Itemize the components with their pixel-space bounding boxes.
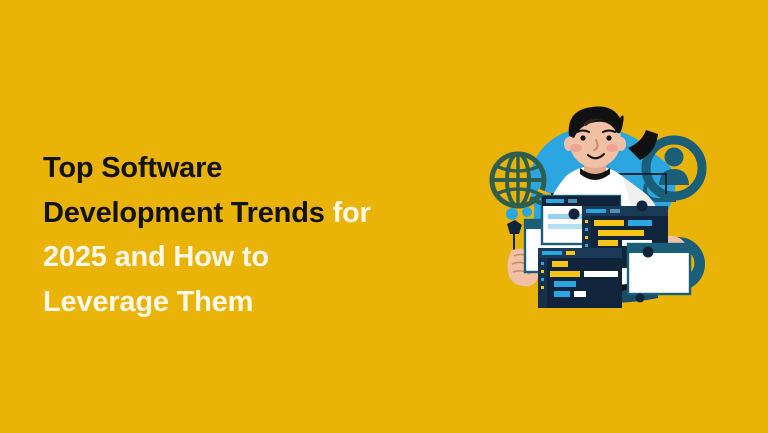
headline-line-3: 2025 and How to <box>43 235 463 280</box>
software-developer-illustration <box>470 102 720 308</box>
page-title: Top Software Development Trends for 2025… <box>43 146 463 324</box>
code-window-right[interactable] <box>628 244 690 294</box>
headline-line-2: Development Trends for <box>43 191 463 236</box>
blog-banner: Top Software Development Trends for 2025… <box>0 0 768 433</box>
headline-line-4: Leverage Them <box>43 280 463 325</box>
code-window-lower-left[interactable] <box>538 248 622 308</box>
headline-line-2-light: for <box>325 197 371 229</box>
headline-line-1: Top Software <box>43 146 463 191</box>
headline-line-2-dark: Development Trends <box>43 197 325 229</box>
